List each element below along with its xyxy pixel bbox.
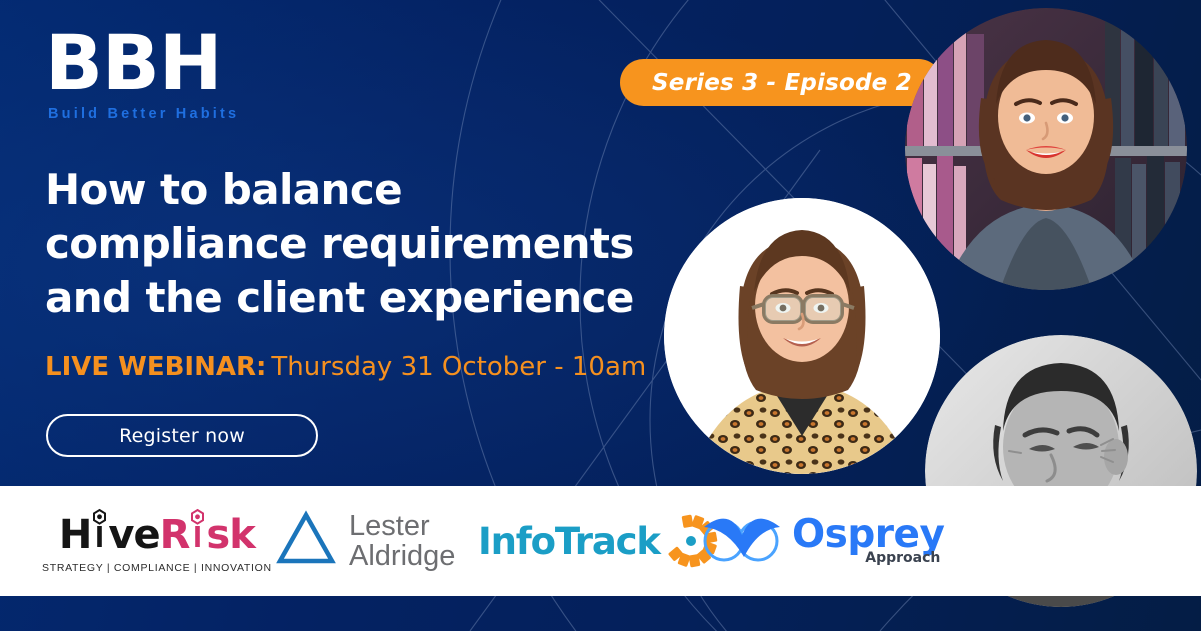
page-title: How to balance compliance requirements a… bbox=[45, 163, 685, 324]
register-button[interactable]: Register now bbox=[46, 414, 318, 457]
hiverisk-wordmark: H ve R bbox=[59, 508, 255, 555]
speaker-photo-center bbox=[664, 198, 940, 474]
webinar-promo-banner: BBH Build Better Habits How to balance c… bbox=[0, 0, 1201, 631]
sponsor-logo-osprey-approach: Osprey Approach bbox=[700, 486, 944, 596]
brand-logo-text: BBH bbox=[45, 27, 465, 99]
brand-logo: BBH Build Better Habits bbox=[45, 27, 465, 122]
series-episode-badge: Series 3 - Episode 2 bbox=[620, 59, 942, 106]
sponsor-logo-lester-aldridge: Lester Aldridge bbox=[275, 486, 455, 596]
hiverisk-i-hex-icon bbox=[92, 508, 107, 548]
headline-line-3: and the client experience bbox=[45, 271, 685, 325]
lester-aldridge-line-2: Aldridge bbox=[349, 541, 455, 571]
hiverisk-sk: sk bbox=[206, 515, 254, 555]
brand-tagline: Build Better Habits bbox=[48, 106, 465, 122]
hiverisk-r: R bbox=[160, 515, 190, 555]
hiverisk-ve: ve bbox=[108, 515, 159, 555]
sponsor-logo-hiverisk: H ve R bbox=[42, 486, 272, 596]
lester-aldridge-triangle-icon bbox=[275, 510, 337, 573]
speaker-photo-top-right bbox=[905, 8, 1187, 290]
sponsor-logo-infotrack: InfoTrack bbox=[478, 486, 720, 596]
hiverisk-tagline: STRATEGY | COMPLIANCE | INNOVATION bbox=[42, 562, 272, 574]
hiverisk-i-hex-icon-2 bbox=[190, 508, 205, 548]
headline-line-1: How to balance bbox=[45, 163, 685, 217]
infotrack-wordmark: InfoTrack bbox=[478, 520, 660, 563]
hiverisk-h: H bbox=[59, 515, 91, 555]
webinar-details: Thursday 31 October - 10am bbox=[271, 352, 646, 382]
webinar-label: LIVE WEBINAR: bbox=[45, 352, 266, 382]
lester-aldridge-line-1: Lester bbox=[349, 511, 455, 541]
osprey-bird-icon bbox=[700, 509, 784, 574]
lester-aldridge-wordmark: Lester Aldridge bbox=[349, 511, 455, 571]
webinar-datetime: LIVE WEBINAR:Thursday 31 October - 10am bbox=[45, 352, 646, 382]
osprey-sublabel: Approach bbox=[865, 550, 940, 566]
osprey-wordmark: Osprey bbox=[792, 516, 944, 553]
sponsor-logo-strip: H ve R bbox=[0, 486, 1201, 596]
headline-line-2: compliance requirements bbox=[45, 217, 685, 271]
